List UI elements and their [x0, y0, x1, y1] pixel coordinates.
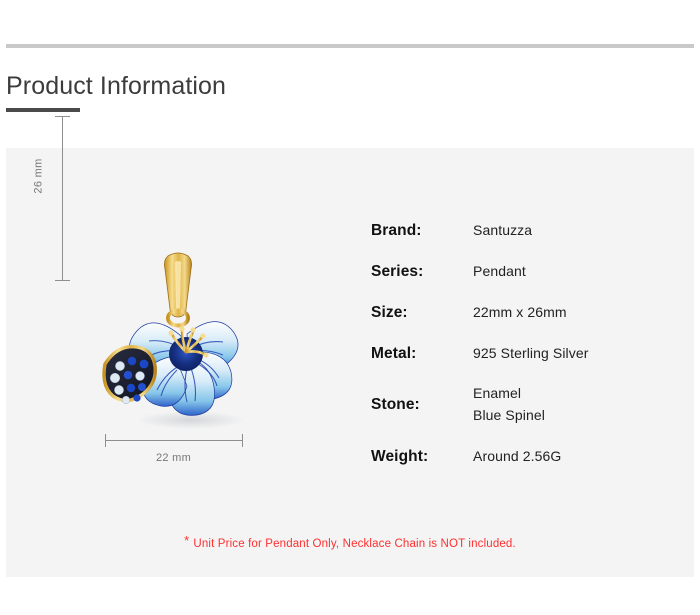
- spec-value-line: Santuzza: [473, 220, 532, 242]
- spec-value-stone: Enamel Blue Spinel: [473, 383, 545, 426]
- spec-row: Size: 22mm x 26mm: [371, 292, 671, 333]
- product-photo-pendant: [95, 248, 275, 433]
- spec-row: Stone: Enamel Blue Spinel: [371, 374, 671, 436]
- spec-value-metal: 925 Sterling Silver: [473, 343, 589, 365]
- width-dimension-label: 22 mm: [105, 452, 242, 464]
- height-dimension-line: [62, 116, 63, 280]
- width-dimension-cap-right: [242, 434, 243, 447]
- width-dimension-line: [105, 440, 242, 441]
- spec-value-series: Pendant: [473, 261, 526, 283]
- spec-value-line: 22mm x 26mm: [473, 302, 567, 324]
- spec-row: Weight: Around 2.56G: [371, 436, 671, 477]
- spec-row: Brand: Santuzza: [371, 210, 671, 251]
- spec-value-line: Around 2.56G: [473, 446, 561, 468]
- spec-value-brand: Santuzza: [473, 220, 532, 242]
- spec-label-weight: Weight:: [371, 448, 473, 466]
- width-dimension-cap-left: [105, 434, 106, 447]
- spec-label-stone: Stone:: [371, 396, 473, 414]
- height-dimension-cap-bottom: [55, 280, 70, 281]
- height-dimension-label: 26 mm: [33, 158, 45, 193]
- asterisk-icon: *: [184, 533, 189, 548]
- spec-row: Series: Pendant: [371, 251, 671, 292]
- spec-value-line: Pendant: [473, 261, 526, 283]
- spec-value-size: 22mm x 26mm: [473, 302, 567, 324]
- page-title: Product Information: [6, 74, 226, 99]
- spec-label-size: Size:: [371, 304, 473, 322]
- spec-label-brand: Brand:: [371, 222, 473, 240]
- spec-value-line: Blue Spinel: [473, 405, 545, 427]
- spec-row: Metal: 925 Sterling Silver: [371, 333, 671, 374]
- spec-value-line: 925 Sterling Silver: [473, 343, 589, 365]
- spec-value-line: Enamel: [473, 383, 545, 405]
- spec-label-series: Series:: [371, 263, 473, 281]
- top-divider: [6, 44, 694, 48]
- footnote-text: Unit Price for Pendant Only, Necklace Ch…: [193, 538, 515, 550]
- product-spec-table: Brand: Santuzza Series: Pendant Size: 22…: [371, 210, 671, 477]
- title-underline-accent: [6, 108, 80, 112]
- spec-value-weight: Around 2.56G: [473, 446, 561, 468]
- footnote-disclaimer: *Unit Price for Pendant Only, Necklace C…: [0, 533, 700, 550]
- height-dimension-cap-top: [55, 116, 70, 117]
- pendant-bail: [164, 253, 191, 326]
- spec-label-metal: Metal:: [371, 345, 473, 363]
